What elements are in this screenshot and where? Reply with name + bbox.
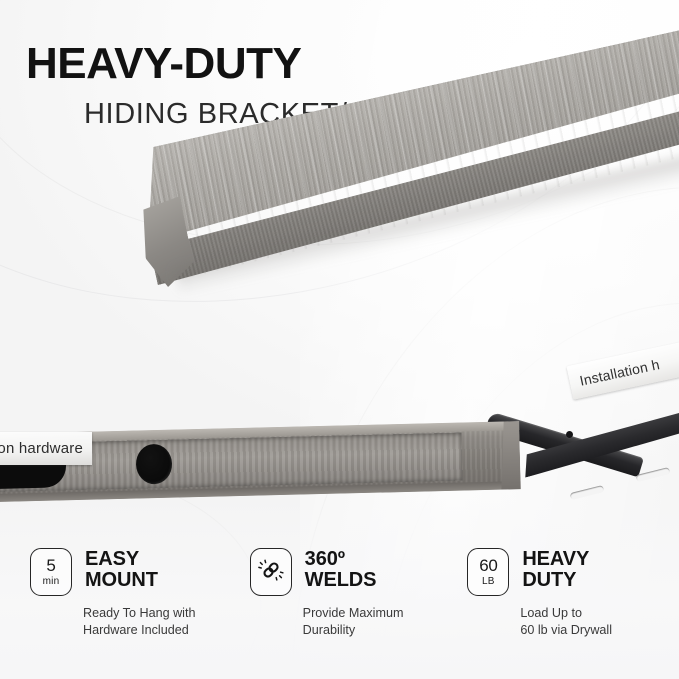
feature-description: Load Up to 60 lb via Drywall: [520, 605, 679, 638]
badge-chain-link: [250, 548, 292, 596]
installation-card-label: ion hardware: [0, 440, 92, 457]
feature-description: Provide Maximum Durability: [303, 605, 462, 638]
feature-title: HEAVY DUTY: [522, 548, 589, 591]
badge-value: 5: [46, 557, 55, 574]
feature-heavy-duty: 60 LB HEAVY DUTY Load Up to 60 lb via Dr…: [461, 548, 679, 668]
feature-header: 5 min EASY MOUNT: [30, 548, 242, 596]
feature-row: 5 min EASY MOUNT Ready To Hang with Hard…: [0, 548, 679, 668]
bracket-slot: [570, 485, 605, 500]
badge-5-min: 5 min: [30, 548, 72, 596]
badge-60-lb: 60 LB: [467, 548, 509, 596]
feature-title: 360º WELDS: [305, 548, 377, 591]
feature-easy-mount: 5 min EASY MOUNT Ready To Hang with Hard…: [0, 548, 242, 668]
badge-value: 60: [479, 557, 497, 574]
product-photo-bottom-shelf: ion hardware: [0, 414, 560, 524]
feature-description: Ready To Hang with Hardware Included: [83, 605, 242, 638]
feature-title: EASY MOUNT: [85, 548, 158, 591]
product-infographic-page: HEAVY-DUTY HIDING BRACKET/ACCESSORY Inst…: [0, 0, 679, 679]
chain-link-icon: [258, 557, 284, 587]
feature-360-welds: 360º WELDS Provide Maximum Durability: [242, 548, 462, 668]
bracket-slot: [636, 467, 671, 482]
feature-header: 60 LB HEAVY DUTY: [467, 548, 679, 596]
badge-unit: LB: [482, 577, 495, 587]
feature-header: 360º WELDS: [250, 548, 462, 596]
bracket-screw-hole: [566, 431, 573, 438]
product-photo-top-shelf: Installation h: [0, 130, 679, 420]
installation-hardware-card-top: Installation h: [566, 339, 679, 399]
installation-card-label: Installation h: [568, 356, 661, 391]
installation-hardware-card-bottom: ion hardware: [0, 432, 92, 465]
badge-unit: min: [43, 577, 60, 587]
